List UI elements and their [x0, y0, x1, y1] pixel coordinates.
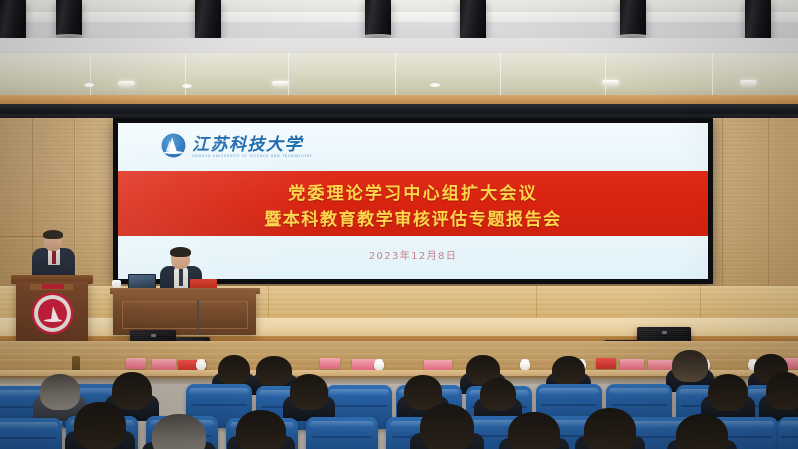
- glass-partition-band: [0, 52, 798, 99]
- conference-hall-photo: 江苏科技大学 JIANGSU UNIVERSITY OF SCIENCE AND…: [0, 0, 798, 449]
- desk-nameplate: [620, 359, 644, 370]
- audience-head: [74, 402, 126, 449]
- ceiling: [0, 0, 798, 42]
- podium-nameplate: [42, 284, 64, 289]
- audience-head: [676, 414, 728, 449]
- wall-lamp-icon: [602, 80, 619, 85]
- head-table: [113, 291, 256, 335]
- university-name-english: JIANGSU UNIVERSITY OF SCIENCE AND TECHNO…: [192, 154, 313, 158]
- audience-head: [152, 414, 206, 449]
- audience-chair[interactable]: [306, 417, 378, 449]
- audience-head: [708, 374, 748, 411]
- audience-head: [218, 355, 250, 385]
- audience-head: [552, 356, 585, 385]
- projection-screen: 江苏科技大学 JIANGSU UNIVERSITY OF SCIENCE AND…: [113, 118, 713, 284]
- audience-head: [290, 374, 328, 410]
- audience-head: [480, 378, 516, 411]
- slide-surface: 江苏科技大学 JIANGSU UNIVERSITY OF SCIENCE AND…: [118, 123, 708, 279]
- thermos-icon: [72, 356, 80, 371]
- audience-head: [672, 350, 708, 382]
- wall-lamp-icon: [272, 81, 289, 86]
- audience-head: [766, 372, 798, 410]
- audience-head: [508, 412, 560, 449]
- audience-head: [420, 404, 474, 449]
- desk-nameplate: [352, 359, 376, 370]
- ceiling-glow: [0, 12, 798, 22]
- university-seal-sailboat-icon: [34, 295, 71, 332]
- audience-chair[interactable]: [0, 418, 62, 449]
- audience-head: [256, 356, 292, 386]
- wall-lamp-icon: [740, 80, 757, 85]
- audience-head: [236, 410, 286, 449]
- desk-nameplate: [126, 358, 146, 369]
- university-sail-logo-icon: [160, 132, 187, 159]
- slide-date: 2023年12月8日: [118, 247, 708, 262]
- audience-chair[interactable]: [778, 417, 798, 449]
- desk-nameplate: [152, 359, 176, 370]
- slide-title-line-2: 暨本科教育教学审核评估专题报告会: [118, 205, 708, 230]
- wall-lamp-icon: [118, 81, 135, 86]
- audience-head: [40, 374, 80, 410]
- university-name-chinese: 江苏科技大学: [192, 137, 303, 154]
- audience-head: [584, 408, 636, 449]
- desk-nameplate: [320, 358, 340, 369]
- slide-title-line-1: 党委理论学习中心组扩大会议: [118, 179, 708, 204]
- audience-head: [112, 372, 152, 410]
- desk-nameplate: [596, 358, 616, 369]
